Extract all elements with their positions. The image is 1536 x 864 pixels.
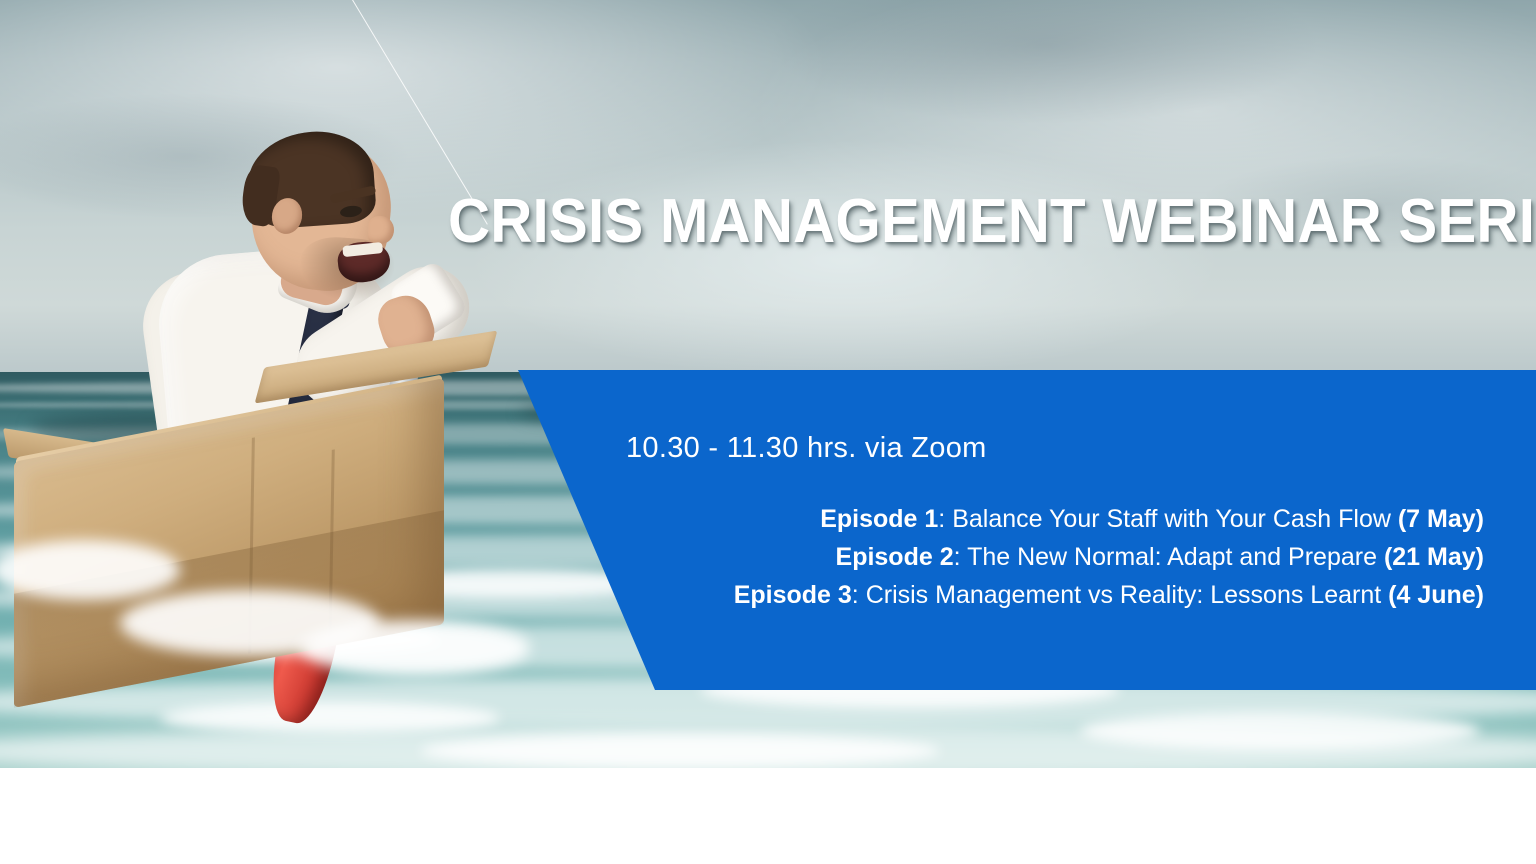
episode-separator: : (852, 581, 866, 609)
episode-label: Episode 2 (836, 543, 954, 571)
episode-row: Episode 1: Balance Your Staff with Your … (560, 500, 1484, 538)
episode-row: Episode 2: The New Normal: Adapt and Pre… (560, 538, 1484, 576)
episode-topic: The New Normal: Adapt and Prepare (967, 543, 1384, 571)
episode-date: (21 May) (1384, 543, 1484, 571)
episode-date: (7 May) (1398, 505, 1484, 533)
episode-label: Episode 1 (820, 505, 938, 533)
episode-list: Episode 1: Balance Your Staff with Your … (560, 500, 1484, 614)
episode-topic: Crisis Management vs Reality: Lessons Le… (866, 581, 1388, 609)
sponsor-footer: Organised by: Supported by: Sponsored by… (0, 768, 1536, 864)
episode-label: Episode 3 (734, 581, 852, 609)
episode-separator: : (938, 505, 952, 533)
episode-date: (4 June) (1388, 581, 1484, 609)
episode-separator: : (954, 543, 967, 571)
session-time: 10.30 - 11.30 hrs. via Zoom (626, 432, 987, 465)
episode-topic: Balance Your Staff with Your Cash Flow (952, 505, 1398, 533)
panel-content: 10.30 - 11.30 hrs. via Zoom Episode 1: B… (560, 370, 1500, 690)
episode-row: Episode 3: Crisis Management vs Reality:… (560, 576, 1484, 614)
info-panel: 10.30 - 11.30 hrs. via Zoom Episode 1: B… (0, 0, 1536, 768)
webinar-promo-banner: CRISIS MANAGEMENT WEBINAR SERIES 10.30 -… (0, 0, 1536, 864)
